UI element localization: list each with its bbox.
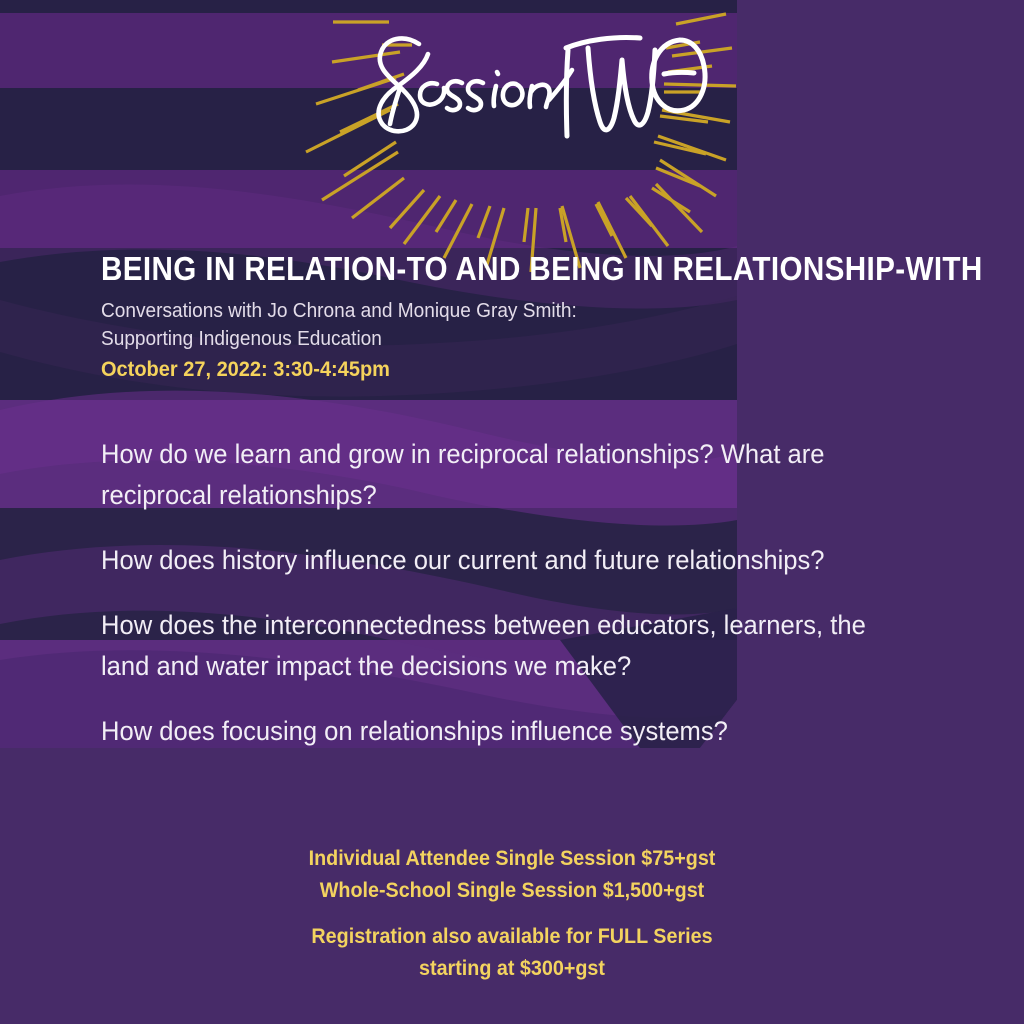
question-item: How do we learn and grow in reciprocal r… xyxy=(101,434,873,516)
pricing-spacer xyxy=(0,907,1024,921)
event-date-time: October 27, 2022: 3:30-4:45pm xyxy=(101,354,752,384)
full-series-line-2: starting at $300+gst xyxy=(31,953,994,985)
pricing-block: Individual Attendee Single Session $75+g… xyxy=(0,843,1024,985)
question-item: How does history influence our current a… xyxy=(101,540,873,581)
poster-canvas: BEING IN RELATION-TO AND BEING IN RELATI… xyxy=(0,0,1024,1024)
subtitle-block: Conversations with Jo Chrona and Monique… xyxy=(101,297,801,384)
poster-content: BEING IN RELATION-TO AND BEING IN RELATI… xyxy=(0,0,1024,1024)
page-title: BEING IN RELATION-TO AND BEING IN RELATI… xyxy=(101,252,862,287)
price-individual: Individual Attendee Single Session $75+g… xyxy=(31,843,994,875)
price-whole-school: Whole-School Single Session $1,500+gst xyxy=(31,875,994,907)
subtitle-line-2: Supporting Indigenous Education xyxy=(101,325,752,353)
subtitle-line-1: Conversations with Jo Chrona and Monique… xyxy=(101,297,752,325)
question-item: How does the interconnectedness between … xyxy=(101,605,873,687)
full-series-line-1: Registration also available for FULL Ser… xyxy=(31,921,994,953)
questions-list: How do we learn and grow in reciprocal r… xyxy=(101,434,901,752)
question-item: How does focusing on relationships influ… xyxy=(101,711,873,752)
